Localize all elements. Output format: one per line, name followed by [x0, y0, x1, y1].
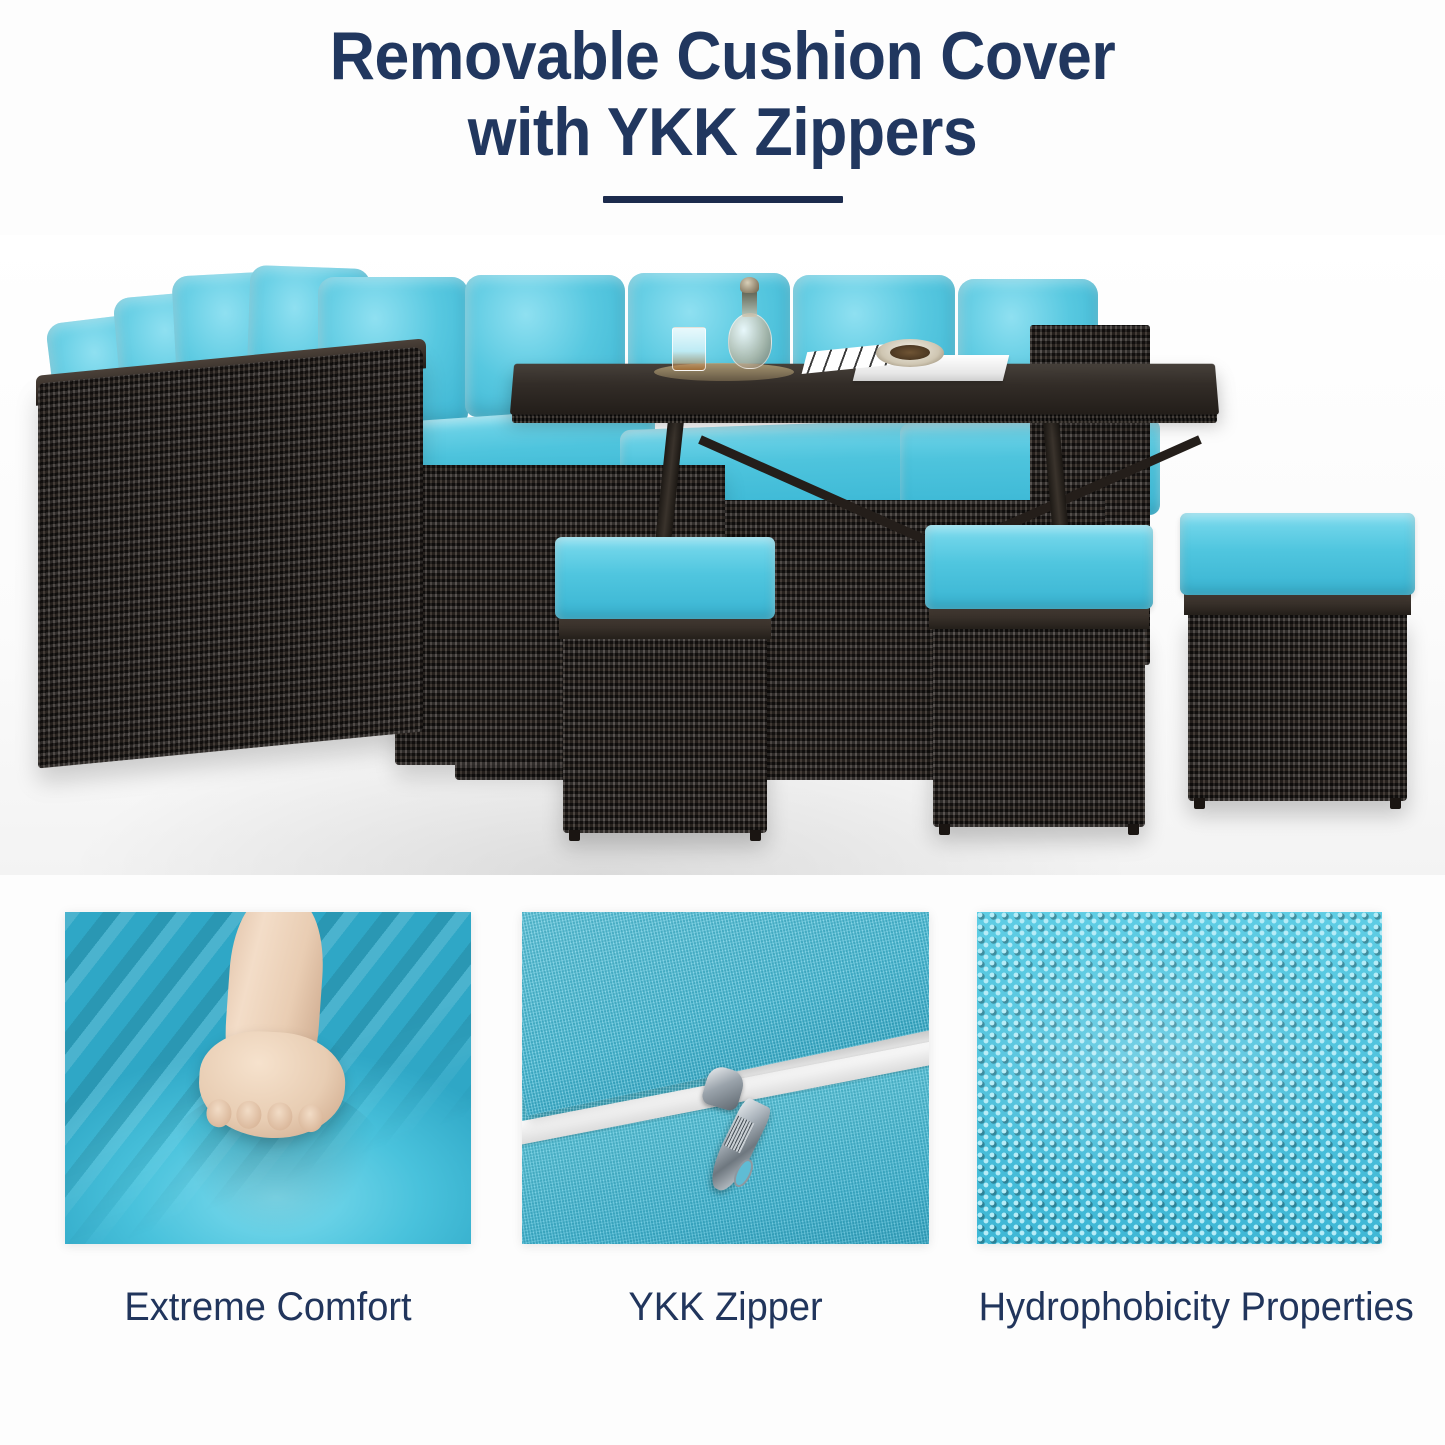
feature-panels [0, 912, 1445, 1252]
ottoman-rim [929, 607, 1149, 629]
knuckle [205, 1098, 231, 1127]
page-title-line-1: Removable Cushion Cover [58, 18, 1387, 94]
feature-image-hydrophobicity [977, 912, 1382, 1244]
title-underline-divider [603, 196, 843, 203]
page-title-line-2: with YKK Zippers [58, 94, 1387, 170]
feature-captions: Extreme Comfort YKK Zipper Hydrophobicit… [0, 1282, 1445, 1352]
glass-tumbler [672, 327, 706, 371]
feature-image-ykk-zipper [522, 912, 929, 1244]
ottoman-foot [1194, 798, 1205, 809]
sofa-left-arm-panel [38, 346, 423, 768]
plate-food [890, 345, 930, 360]
ottoman-3 [1180, 513, 1415, 813]
caption-extreme-comfort: Extreme Comfort [75, 1282, 461, 1332]
ottoman-foot [939, 824, 950, 835]
header: Removable Cushion Cover with YKK Zippers [0, 18, 1445, 203]
caption-hydrophobicity-properties: Hydrophobicity Properties [979, 1282, 1382, 1332]
ottoman-2 [925, 525, 1153, 837]
glass-decanter [728, 313, 772, 369]
ottoman-wicker-body [563, 637, 767, 833]
ottoman-rim [559, 617, 771, 639]
caption-ykk-zipper: YKK Zipper [532, 1282, 919, 1332]
knuckle [297, 1103, 323, 1132]
ottoman-rim [1184, 593, 1411, 615]
knuckle [236, 1100, 262, 1129]
ottoman-foot [750, 830, 761, 841]
ottoman-wicker-body [1188, 613, 1407, 801]
ottoman-cushion [555, 537, 775, 619]
decanter-neck [742, 289, 757, 317]
ottoman-wicker-body [933, 627, 1145, 827]
product-feature-infographic: Removable Cushion Cover with YKK Zippers [0, 0, 1445, 1445]
ottoman-cushion [1180, 513, 1415, 595]
ottoman-foot [1128, 824, 1139, 835]
knuckle [267, 1101, 293, 1130]
ottoman-foot [569, 830, 580, 841]
ottoman-cushion [925, 525, 1153, 609]
feature-image-extreme-comfort [65, 912, 471, 1244]
hero-product-image [0, 235, 1445, 875]
fabric-sheen [977, 912, 1382, 1244]
decanter-stopper [740, 277, 759, 293]
ottoman-1 [555, 537, 775, 837]
ottoman-foot [1390, 798, 1401, 809]
